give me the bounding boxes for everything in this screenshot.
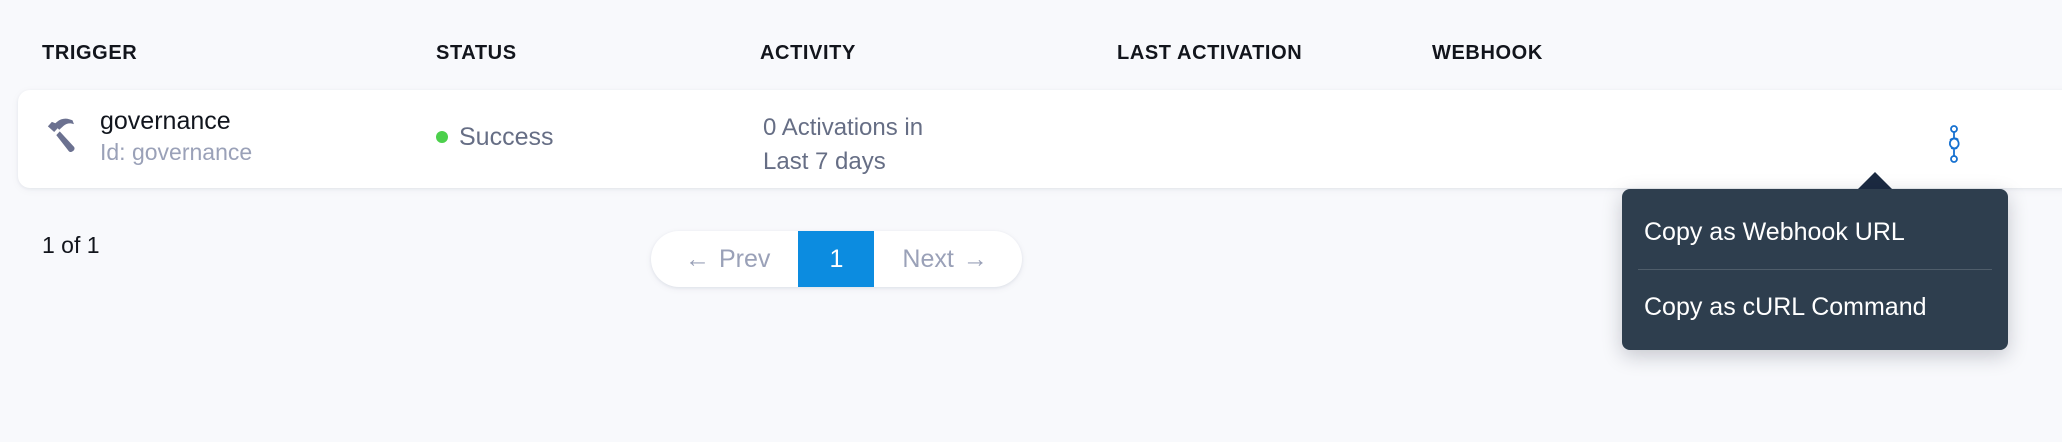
arrow-right-icon: → [963, 245, 988, 274]
column-header-webhook: WEBHOOK [1432, 42, 1543, 65]
webhook-icon-button[interactable] [1934, 124, 1974, 164]
prev-page-label: Prev [719, 245, 770, 274]
column-header-status: STATUS [436, 42, 517, 65]
trigger-texts: governance Id: governance [100, 106, 252, 166]
arrow-left-icon: ← [685, 245, 710, 274]
page-number-1-button[interactable]: 1 [798, 231, 874, 287]
webhook-icon [1941, 125, 1967, 163]
activity-line-1: 0 Activations in [763, 111, 923, 145]
trigger-id: Id: governance [100, 138, 252, 166]
triggers-table-screen: TRIGGER STATUS ACTIVITY LAST ACTIVATION … [0, 0, 2062, 442]
trigger-cell: governance Id: governance [40, 106, 252, 166]
status-cell: Success [436, 122, 553, 152]
activity-line-2: Last 7 days [763, 145, 923, 179]
pagination: ← Prev 1 Next → [651, 231, 1022, 287]
next-page-button[interactable]: Next → [874, 231, 1021, 287]
menu-item-copy-curl-command[interactable]: Copy as cURL Command [1622, 270, 2008, 344]
table-row[interactable]: governance Id: governance Success 0 Acti… [18, 90, 2062, 188]
status-label: Success [459, 122, 553, 152]
result-count-label: 1 of 1 [42, 232, 100, 259]
table-header-row: TRIGGER STATUS ACTIVITY LAST ACTIVATION … [0, 0, 2062, 88]
column-header-trigger: TRIGGER [42, 42, 137, 65]
hammer-icon [40, 113, 86, 159]
trigger-name: governance [100, 106, 252, 136]
menu-item-copy-webhook-url[interactable]: Copy as Webhook URL [1622, 195, 2008, 269]
popup-arrow [1857, 172, 1893, 190]
column-header-activity: ACTIVITY [760, 42, 856, 65]
column-header-last-activation: LAST ACTIVATION [1117, 42, 1302, 65]
popup-menu-panel: Copy as Webhook URL Copy as cURL Command [1622, 189, 2008, 350]
status-dot-icon [436, 131, 448, 143]
prev-page-button[interactable]: ← Prev [651, 231, 798, 287]
next-page-label: Next [902, 245, 953, 274]
activity-cell: 0 Activations in Last 7 days [763, 111, 923, 179]
